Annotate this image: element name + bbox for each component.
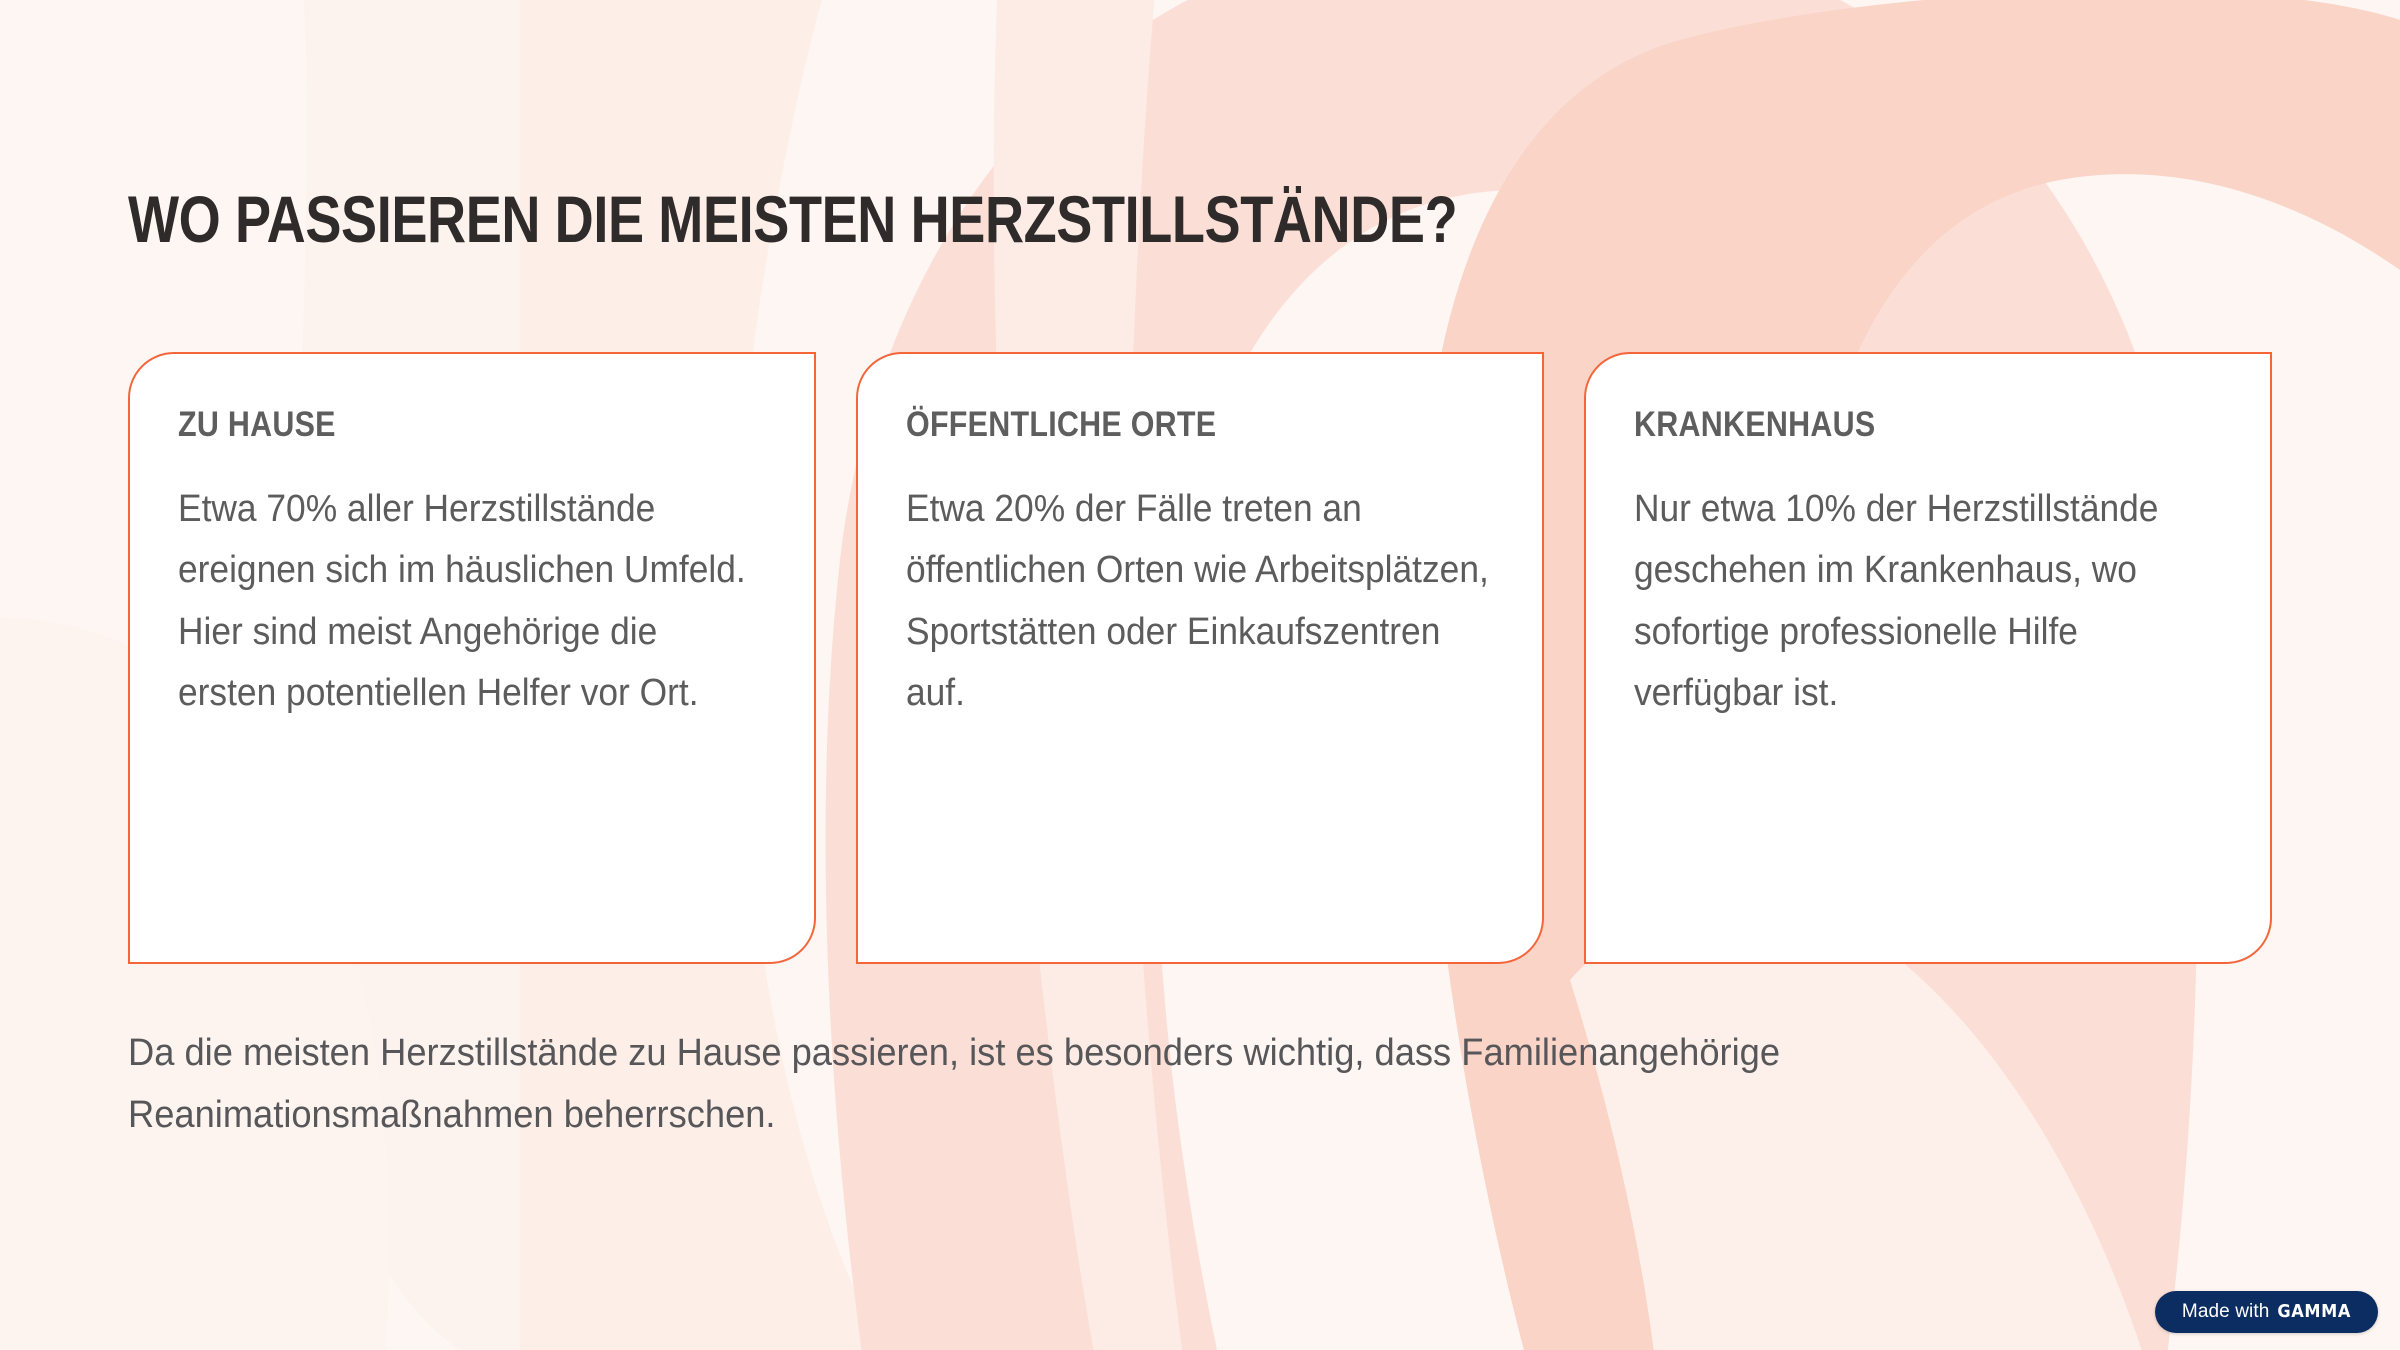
card-body: Nur etwa 10% der Herzstillstände gescheh… — [1634, 479, 2219, 725]
card-title: ÖFFENTLICHE ORTE — [906, 406, 1418, 445]
summary-paragraph: Da die meisten Herzstillstände zu Hause … — [128, 1022, 2095, 1147]
cards-row: ZU HAUSE Etwa 70% aller Herzstillstände … — [128, 352, 2272, 964]
card-zu-hause[interactable]: ZU HAUSE Etwa 70% aller Herzstillstände … — [128, 352, 816, 964]
card-oeffentliche-orte[interactable]: ÖFFENTLICHE ORTE Etwa 20% der Fälle tret… — [856, 352, 1544, 964]
card-krankenhaus[interactable]: KRANKENHAUS Nur etwa 10% der Herzstillst… — [1584, 352, 2272, 964]
badge-made-with-label: Made with — [2182, 1302, 2270, 1321]
made-with-gamma-badge[interactable]: Made with GAMMA — [2155, 1291, 2378, 1333]
page-title: WO PASSIEREN DIE MEISTEN HERZSTILLSTÄNDE… — [128, 186, 1457, 252]
slide-canvas: WO PASSIEREN DIE MEISTEN HERZSTILLSTÄNDE… — [0, 0, 2400, 1350]
card-title: ZU HAUSE — [178, 406, 690, 445]
card-title: KRANKENHAUS — [1634, 406, 2146, 445]
card-body: Etwa 70% aller Herzstillstände ereignen … — [178, 479, 763, 725]
card-body: Etwa 20% der Fälle treten an öffentliche… — [906, 479, 1491, 725]
badge-gamma-wordmark: GAMMA — [2277, 1303, 2351, 1321]
